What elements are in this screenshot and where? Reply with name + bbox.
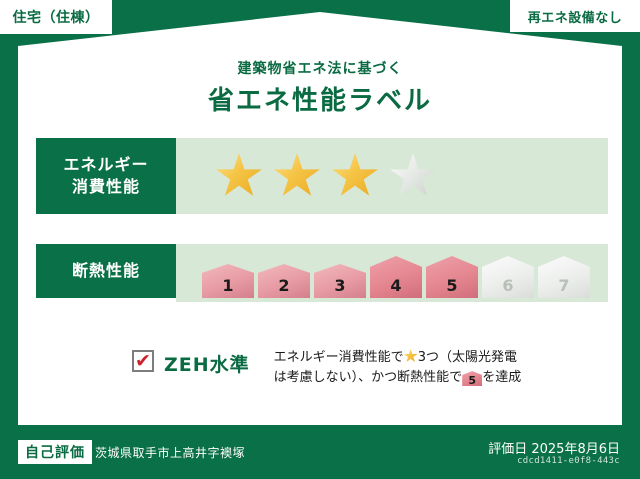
zeh-desc-part2: は考慮しない）、かつ断熱性能で <box>274 370 463 385</box>
energy-performance-label: 住宅（住棟） 再エネ設備なし 建築物省エネ法に基づく 省エネ性能ラベル エネルギ… <box>0 0 640 479</box>
energy-stars-container <box>176 138 608 214</box>
zeh-standard-name: ZEH水準 <box>164 350 250 377</box>
zeh-desc-part3: を達成 <box>482 370 521 385</box>
insulation-grades-container: 1 2 3 4 5 6 7 <box>176 244 608 302</box>
energy-label-line2: 消費性能 <box>72 176 140 198</box>
property-address: 茨城県取手市上高井字襖塚 <box>95 444 245 461</box>
insulation-performance-row: 断熱性能 1 2 3 4 5 6 7 <box>36 244 608 298</box>
energy-performance-row: エネルギー 消費性能 <box>36 138 608 214</box>
zeh-desc-star-count: 3つ（太陽光発電 <box>418 350 517 365</box>
inline-grade-house-icon: 5 <box>462 371 482 386</box>
star-3-filled <box>332 153 378 199</box>
zeh-standard-block: ✔ ZEH水準 エネルギー消費性能で3つ（太陽光発電 は考慮しない）、かつ断熱性… <box>132 348 521 388</box>
zeh-checkbox[interactable]: ✔ <box>132 350 154 372</box>
label-subtitle: 建築物省エネ法に基づく <box>0 58 640 78</box>
star-4-empty <box>390 153 436 199</box>
check-icon: ✔ <box>135 352 151 371</box>
star-2-filled <box>274 153 320 199</box>
renewable-energy-text: 再エネ設備なし <box>528 7 623 26</box>
insulation-grade-5: 5 <box>426 256 478 298</box>
zeh-description: エネルギー消費性能で3つ（太陽光発電 は考慮しない）、かつ断熱性能で5を達成 <box>274 348 522 388</box>
energy-label-line1: エネルギー <box>63 154 148 176</box>
renewable-energy-tag: 再エネ設備なし <box>510 0 640 32</box>
insulation-grade-4: 4 <box>370 256 422 298</box>
insulation-grade-3: 3 <box>314 264 366 298</box>
evaluation-date: 評価日 2025年8月6日 <box>488 438 620 457</box>
inline-star-icon <box>404 349 418 363</box>
evaluation-type-badge: 自己評価 <box>18 440 92 464</box>
energy-performance-label-box: エネルギー 消費性能 <box>36 138 176 214</box>
insulation-grade-2: 2 <box>258 264 310 298</box>
zeh-desc-part1: エネルギー消費性能で <box>274 350 404 365</box>
insulation-grade-1: 1 <box>202 264 254 298</box>
insulation-label-text: 断熱性能 <box>72 260 140 282</box>
insulation-grade-7: 7 <box>538 256 590 298</box>
building-type-text: 住宅（住棟） <box>13 7 100 27</box>
evaluation-id: cdcd1411-e0f8-443c <box>517 456 620 466</box>
building-type-tag: 住宅（住棟） <box>0 0 112 34</box>
insulation-grade-6: 6 <box>482 256 534 298</box>
page-title: 省エネ性能ラベル <box>0 80 640 117</box>
insulation-performance-label-box: 断熱性能 <box>36 244 176 298</box>
star-1-filled <box>216 153 262 199</box>
